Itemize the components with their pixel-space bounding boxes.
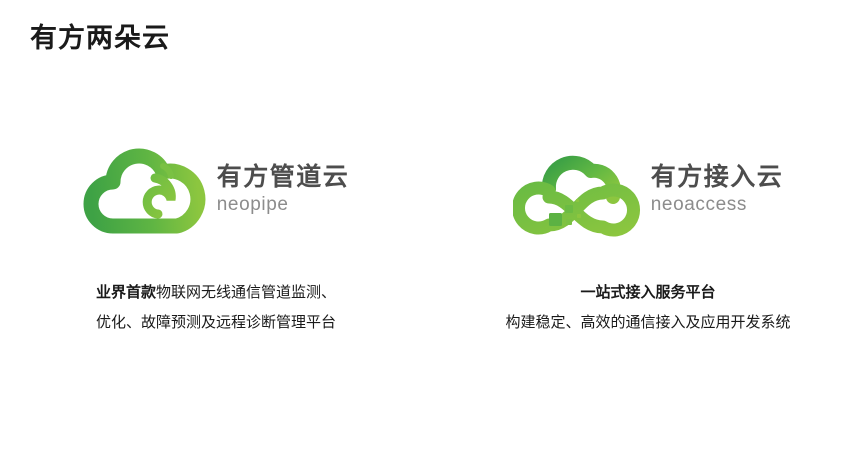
neoaccess-name-cn: 有方接入云 [651, 163, 784, 192]
neopipe-caption: 业界首款物联网无线通信管道监测、 优化、故障预测及远程诊断管理平台 [96, 278, 336, 338]
neoaccess-logo-lockup: 有方接入云 neoaccess [513, 140, 784, 240]
neoaccess-name-en: neoaccess [651, 194, 784, 217]
neoaccess-cloud-logo-icon [513, 141, 641, 239]
product-card-neopipe: 有方管道云 neopipe 业界首款物联网无线通信管道监测、 优化、故障预测及远… [0, 140, 432, 338]
pixel-square-large [549, 213, 562, 226]
neoaccess-logo-text: 有方接入云 neoaccess [651, 163, 784, 217]
page-title: 有方两朵云 [30, 22, 170, 54]
neoaccess-caption: 一站式接入服务平台 构建稳定、高效的通信接入及应用开发系统 [505, 278, 790, 338]
neopipe-caption-line1-rest: 物联网无线通信管道监测、 [156, 284, 336, 301]
neopipe-caption-line-1: 业界首款物联网无线通信管道监测、 [96, 278, 336, 308]
neopipe-logo-text: 有方管道云 neopipe [217, 163, 350, 217]
neoaccess-caption-line-1: 一站式接入服务平台 [505, 278, 790, 308]
neopipe-logo-lockup: 有方管道云 neopipe [83, 140, 350, 240]
neopipe-name-en: neopipe [217, 194, 350, 217]
neopipe-caption-line-2: 优化、故障预测及远程诊断管理平台 [96, 308, 336, 338]
product-card-neoaccess: 有方接入云 neoaccess 一站式接入服务平台 构建稳定、高效的通信接入及应… [432, 140, 864, 338]
neopipe-name-cn: 有方管道云 [217, 163, 350, 192]
pixel-square-small [566, 219, 572, 225]
pixel-square-dot [576, 199, 579, 202]
neopipe-cloud-logo-icon [83, 142, 207, 238]
pixel-square-medium [565, 205, 573, 213]
neopipe-caption-highlight: 业界首款 [96, 284, 156, 301]
neoaccess-caption-line-2: 构建稳定、高效的通信接入及应用开发系统 [505, 308, 790, 338]
pixel-square-tiny [577, 214, 581, 218]
product-cards-container: 有方管道云 neopipe 业界首款物联网无线通信管道监测、 优化、故障预测及远… [0, 140, 864, 338]
